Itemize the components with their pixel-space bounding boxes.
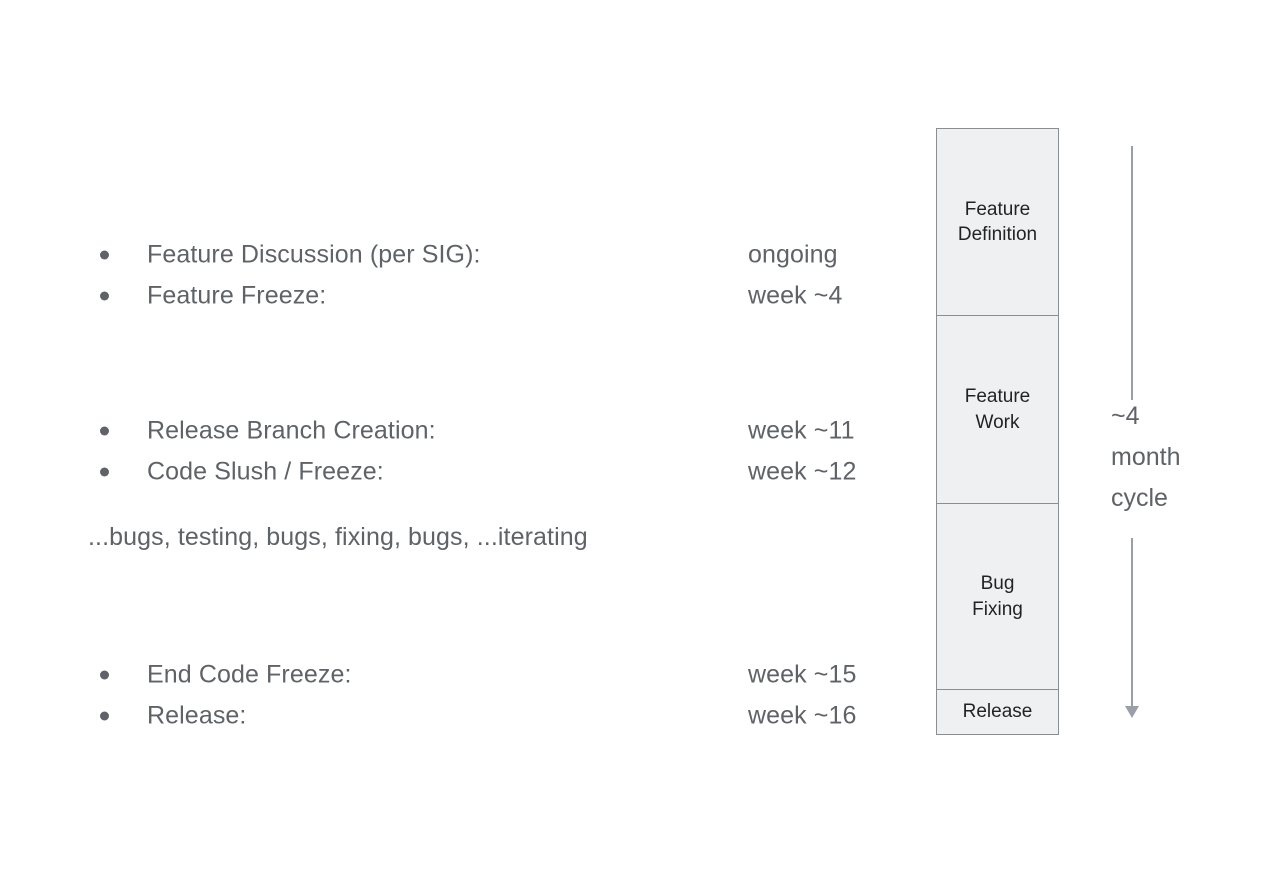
bullet-dot-icon	[100, 426, 109, 435]
milestone-value: week ~4	[748, 281, 843, 310]
phase-box-feature-definition: Feature Definition	[936, 128, 1059, 316]
milestone-value: week ~11	[748, 416, 855, 445]
cycle-label-line1: ~4	[1111, 402, 1140, 430]
list-item: End Code Freeze: week ~15	[88, 654, 908, 695]
phase-label-line1: Feature	[965, 386, 1030, 407]
phase-label-line1: Feature	[965, 199, 1030, 220]
milestone-group-b: Release Branch Creation: week ~11 Code S…	[88, 410, 908, 492]
bullet-dot-icon	[100, 670, 109, 679]
cycle-duration-arrow: ~4 month cycle	[1098, 128, 1248, 738]
phase-label-line1: Release	[963, 701, 1033, 722]
milestone-label: Feature Discussion (per SIG):	[147, 240, 481, 269]
iteration-note: ...bugs, testing, bugs, fixing, bugs, ..…	[88, 523, 588, 552]
milestone-group-a: Feature Discussion (per SIG): ongoing Fe…	[88, 234, 908, 316]
bullet-dot-icon	[100, 467, 109, 476]
list-item: Release: week ~16	[88, 695, 908, 736]
phase-box-release: Release	[936, 689, 1059, 735]
milestone-label: Release:	[147, 701, 246, 730]
slide-canvas: Feature Discussion (per SIG): ongoing Fe…	[0, 0, 1280, 895]
milestone-label: Feature Freeze:	[147, 281, 326, 310]
list-item: Feature Freeze: week ~4	[88, 275, 908, 316]
phase-label-line2: Work	[976, 412, 1020, 433]
list-item: Release Branch Creation: week ~11	[88, 410, 908, 451]
phase-label-line2: Fixing	[972, 599, 1023, 620]
bullet-dot-icon	[100, 250, 109, 259]
milestone-value: week ~16	[748, 701, 857, 730]
milestone-value: week ~12	[748, 457, 857, 486]
phase-box-bug-fixing: Bug Fixing	[936, 503, 1059, 690]
milestone-label: End Code Freeze:	[147, 660, 352, 689]
arrow-head-icon	[1125, 706, 1139, 718]
milestone-group-c: End Code Freeze: week ~15 Release: week …	[88, 654, 908, 736]
milestone-value: ongoing	[748, 240, 838, 269]
cycle-label-line3: cycle	[1111, 484, 1168, 512]
milestone-label: Code Slush / Freeze:	[147, 457, 384, 486]
arrow-line-top	[1131, 146, 1133, 400]
cycle-label-line2: month	[1111, 443, 1180, 471]
phase-label-line2: Definition	[958, 224, 1037, 245]
cycle-duration-label: ~4 month cycle	[1111, 396, 1180, 519]
milestone-label: Release Branch Creation:	[147, 416, 436, 445]
bullet-dot-icon	[100, 711, 109, 720]
milestone-value: week ~15	[748, 660, 857, 689]
list-item: Feature Discussion (per SIG): ongoing	[88, 234, 908, 275]
list-item: Code Slush / Freeze: week ~12	[88, 451, 908, 492]
arrow-line-bottom	[1131, 538, 1133, 716]
phase-label-line1: Bug	[981, 573, 1015, 594]
bullet-dot-icon	[100, 291, 109, 300]
phase-box-feature-work: Feature Work	[936, 315, 1059, 505]
release-phase-column: Feature Definition Feature Work Bug Fixi…	[936, 128, 1059, 735]
